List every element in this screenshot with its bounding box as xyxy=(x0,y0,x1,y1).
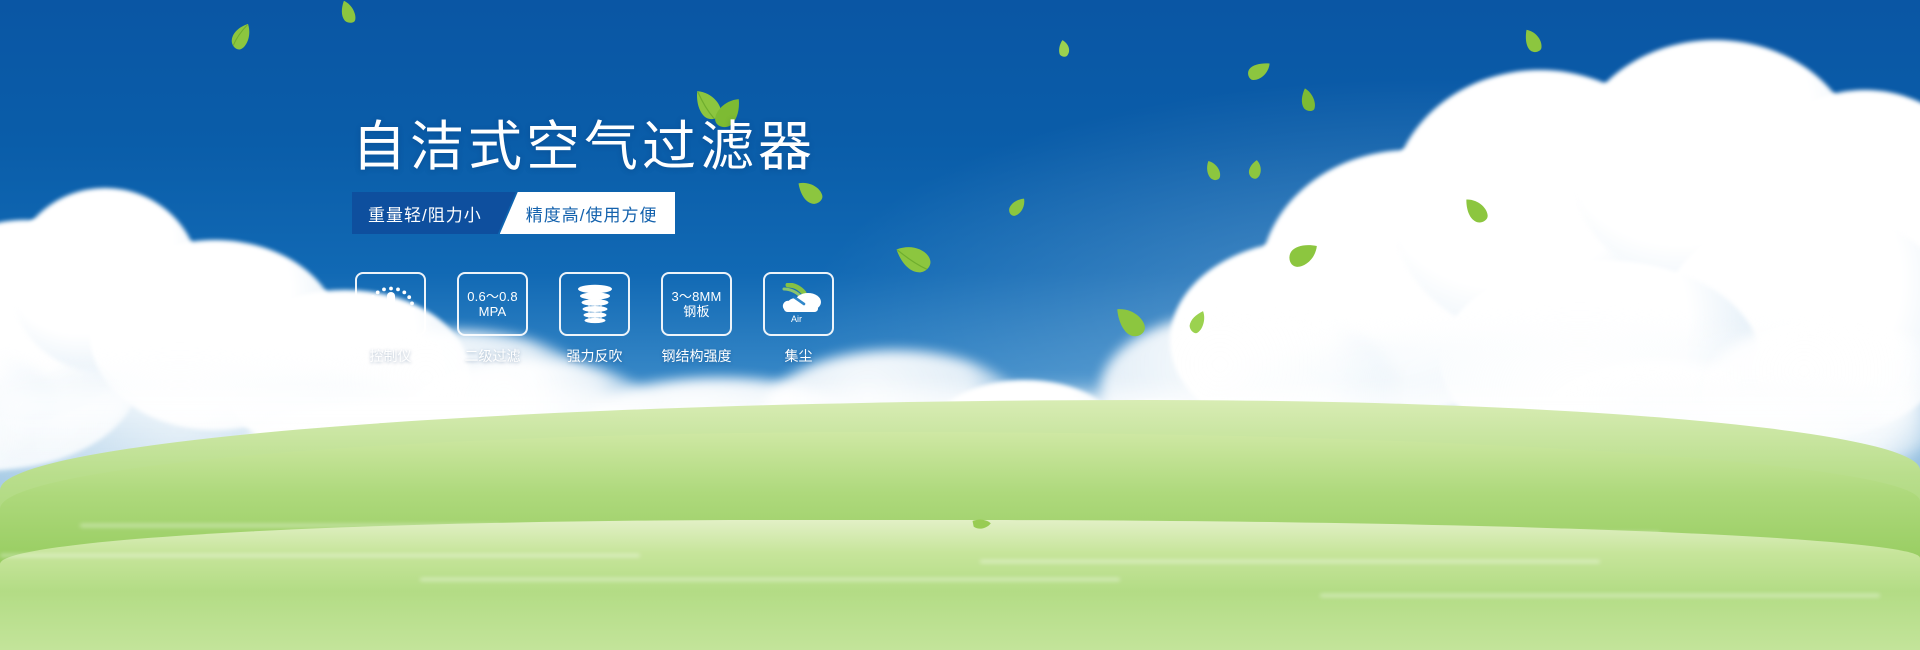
steel-material: 钢板 xyxy=(671,304,721,319)
gauge-on-label: NO xyxy=(369,304,380,311)
pressure-range: 0.6～0.8 xyxy=(467,289,518,304)
feature-icon-box: Air xyxy=(763,272,834,336)
feature-caption: 二级过滤 xyxy=(465,346,521,366)
feature-list: NO OFF 控制仪 0.6～0.8 MPA 二级过滤 xyxy=(355,272,834,366)
tab-group: 重量轻/阻力小 精度高/使用方便 xyxy=(352,192,675,234)
feature-item-controller[interactable]: NO OFF 控制仪 xyxy=(355,272,426,366)
steel-plate-text-icon: 3～8MM 钢板 xyxy=(671,289,721,319)
page-title: 自洁式空气过滤器 xyxy=(352,118,816,177)
tab-lightweight-low-resistance[interactable]: 重量轻/阻力小 xyxy=(352,192,516,234)
gauge-icon: NO OFF xyxy=(365,282,417,326)
tab-high-precision-easy-use[interactable]: 精度高/使用方便 xyxy=(500,192,676,234)
feature-item-strong-backblow[interactable]: 强力反吹 xyxy=(559,272,630,366)
feature-caption: 钢结构强度 xyxy=(662,346,732,366)
feature-icon-box: 0.6～0.8 MPA xyxy=(457,272,528,336)
feature-icon-box: NO OFF xyxy=(355,272,426,336)
hero-banner: 自洁式空气过滤器 重量轻/阻力小 精度高/使用方便 xyxy=(0,0,1920,650)
air-label: Air xyxy=(791,314,802,324)
tab-label: 精度高/使用方便 xyxy=(526,201,658,226)
steel-thickness: 3～8MM xyxy=(671,289,721,304)
feature-caption: 强力反吹 xyxy=(567,346,623,366)
pressure-text-icon: 0.6～0.8 MPA xyxy=(467,289,518,319)
feature-item-steel-strength[interactable]: 3～8MM 钢板 钢结构强度 xyxy=(661,272,732,366)
dust-cloud-icon: Air xyxy=(774,283,824,325)
filter-cartridge-icon xyxy=(572,281,618,327)
feature-item-dust-collection[interactable]: Air 集尘 xyxy=(763,272,834,366)
pressure-unit: MPA xyxy=(467,304,518,319)
tab-label: 重量轻/阻力小 xyxy=(368,201,482,226)
feature-item-two-stage-filter[interactable]: 0.6～0.8 MPA 二级过滤 xyxy=(457,272,528,366)
banner-content: 自洁式空气过滤器 重量轻/阻力小 精度高/使用方便 xyxy=(0,0,1920,650)
feature-icon-box xyxy=(559,272,630,336)
feature-icon-box: 3～8MM 钢板 xyxy=(661,272,732,336)
feature-caption: 控制仪 xyxy=(370,346,412,366)
gauge-off-label: OFF xyxy=(398,315,411,322)
feature-caption: 集尘 xyxy=(785,346,813,366)
